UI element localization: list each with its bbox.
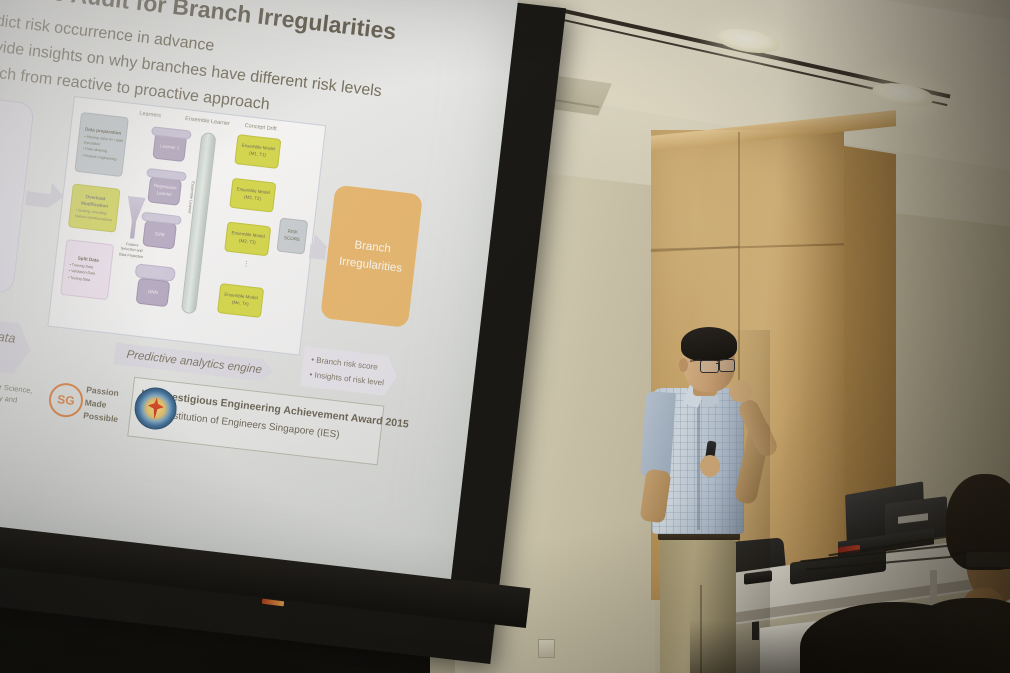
screenshot-root: Risk Management Predictive Audit for Bra… [0, 0, 1010, 673]
right-wall-shadow [780, 0, 1010, 673]
flow-arrow-shaft [25, 191, 50, 208]
sg-logo-icon: SG [47, 381, 85, 419]
output-arrow-head [312, 234, 329, 259]
power-socket[interactable] [538, 639, 555, 658]
model-box: Ensemble Model (M2, T2) [229, 178, 276, 213]
diagram-column-header: Concept Drift [244, 123, 277, 133]
eyeglasses-icon [700, 360, 719, 373]
model-box: Ensemble Model (M3, T3) [224, 221, 271, 256]
pipeline-diagram: Learners Ensemble Learner Concept Drift … [47, 96, 326, 356]
sg-tagline-line: Possible [83, 410, 119, 427]
learner-box: SVM [142, 220, 177, 250]
flow-label-left: Heterogeneous data integration [0, 308, 33, 375]
outcome-bullets: • Branch risk score • Insights of risk l… [300, 346, 399, 397]
diagram-column-header: Ensemble Learner [185, 116, 230, 127]
presenter-hand [730, 380, 752, 402]
model-box: Ensemble Model (M1, T1) [234, 134, 281, 169]
flow-label-left-line1: Heterogeneous data [0, 315, 17, 348]
presenter-hand [700, 455, 720, 477]
diagram-left-box: Overload Modification • Scaling, encodin… [68, 183, 121, 232]
presentation-slide: Risk Management Predictive Audit for Bra… [0, 0, 518, 585]
funnel-label: Feature Selection and Data Projection [117, 241, 147, 260]
presenter-sleeve [640, 391, 676, 479]
diagram-left-box: Split Data • Training Data • Validation … [60, 239, 114, 300]
presenter-hair [681, 327, 737, 361]
astar-logo-text: Agency for Science, Technology and Resea… [0, 378, 46, 421]
diagram-box-item: • Feature engineering [79, 152, 117, 162]
projection-screen-surface: Risk Management Predictive Audit for Bra… [0, 0, 518, 585]
diagram-column-header: Learners [139, 111, 161, 119]
output-branch-irregularities-box: Branch Irregularities [320, 185, 423, 328]
ensemble-cylinder [181, 132, 217, 315]
diagram-left-box: Data preparation • Missing value fix / d… [74, 112, 129, 177]
model-box: Ensemble Model (Mn, Tn) [217, 283, 264, 318]
risk-score-box: RISK SCORE [276, 218, 308, 255]
eyeglasses-icon [719, 359, 735, 372]
input-line: Data [0, 129, 6, 160]
learner-box: DNN [136, 278, 171, 308]
presenter-ear [679, 358, 688, 372]
model-ellipsis: ⋮ [242, 260, 250, 269]
eyeglasses-bridge [716, 363, 720, 364]
learner-box: Regression Learner [147, 176, 182, 206]
sg-tagline: Passion Made Possible [83, 383, 122, 426]
